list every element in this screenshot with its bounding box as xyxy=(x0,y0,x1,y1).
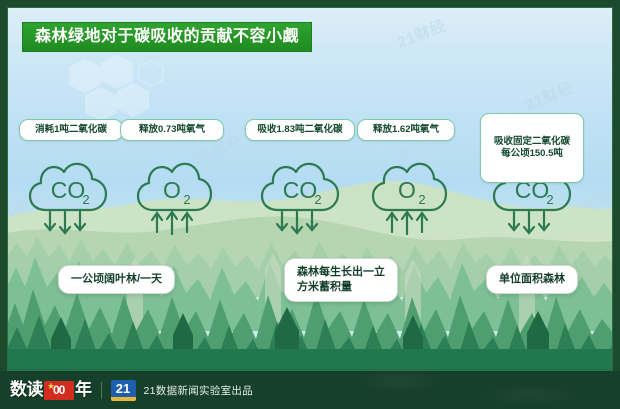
brand-logo-hundred: ★ 00 xyxy=(44,381,74,400)
fact-pill-5-label: 吸收固定二氧化碳 每公顷150.5吨 xyxy=(489,136,575,160)
gas-subscript: 2 xyxy=(183,192,190,207)
brand-logo-hundred-text: 00 xyxy=(53,384,64,397)
fact-pill-3: 吸收1.83吨二氧化碳 xyxy=(245,119,355,141)
ground-strip xyxy=(7,349,613,371)
footer-bar: 数读 ★ 00 年 21 21数据新闻实验室出品 xyxy=(0,371,620,409)
footer-divider xyxy=(101,382,102,399)
group-label-1: 一公顷阔叶林/一天 xyxy=(58,265,175,294)
fact-pill-1-label: 消耗1吨二氧化碳 xyxy=(28,124,114,136)
brand-logo-left: 数读 xyxy=(10,380,43,400)
o2-cloud-icon-1: O 2 xyxy=(133,158,215,238)
badge-21[interactable]: 21 xyxy=(111,380,136,401)
fact-pill-2-label: 释放0.73吨氧气 xyxy=(129,124,215,136)
infographic-poster: 21财经 21财经 21财经 21财经 21财经 21财经 21财经 xyxy=(0,0,620,409)
fact-pill-4-label: 释放1.62吨氧气 xyxy=(366,124,446,136)
footer-credit: 21数据新闻实验室出品 xyxy=(144,383,253,398)
gas-subscript: 2 xyxy=(82,192,89,207)
page-title: 森林绿地对于碳吸收的贡献不容小觑 xyxy=(22,22,312,52)
gas-label: O xyxy=(398,177,416,203)
watermark-text: 21财经 xyxy=(394,14,449,52)
brand-logo[interactable]: 数读 ★ 00 年 xyxy=(10,379,92,401)
gas-subscript: 2 xyxy=(314,192,321,207)
footer-decoration xyxy=(330,371,620,409)
badge-21-text: 21 xyxy=(116,382,130,396)
page-title-text: 森林绿地对于碳吸收的贡献不容小觑 xyxy=(35,27,299,46)
fact-pill-4: 释放1.62吨氧气 xyxy=(357,119,455,141)
group-label-2-text: 森林每生长出一立 方米蓄积量 xyxy=(297,265,385,295)
gas-label: CO xyxy=(51,177,86,203)
gas-subscript: 2 xyxy=(418,192,425,207)
fact-pill-3-label: 吸收1.83吨二氧化碳 xyxy=(254,124,346,136)
hexagon-decoration xyxy=(55,53,185,129)
fact-pill-2: 释放0.73吨氧气 xyxy=(120,119,224,141)
badge-21-underline xyxy=(111,397,136,401)
group-label-3: 单位面积森林 xyxy=(486,265,578,294)
group-label-3-text: 单位面积森林 xyxy=(499,272,565,287)
co2-cloud-icon-2: CO 2 xyxy=(256,158,344,238)
gas-label: CO xyxy=(283,177,318,203)
watermark-text: 21财经 xyxy=(522,76,577,114)
group-label-1-text: 一公顷阔叶林/一天 xyxy=(71,272,162,287)
co2-cloud-icon-1: CO 2 xyxy=(24,158,112,238)
gas-subscript: 2 xyxy=(546,192,553,207)
gas-label: O xyxy=(163,177,181,203)
group-label-2: 森林每生长出一立 方米蓄积量 xyxy=(284,258,398,302)
fact-pill-1: 消耗1吨二氧化碳 xyxy=(19,119,123,141)
brand-logo-right: 年 xyxy=(75,380,92,400)
o2-cloud-icon-2: O 2 xyxy=(368,158,450,238)
fact-pill-5: 吸收固定二氧化碳 每公顷150.5吨 xyxy=(480,113,584,183)
